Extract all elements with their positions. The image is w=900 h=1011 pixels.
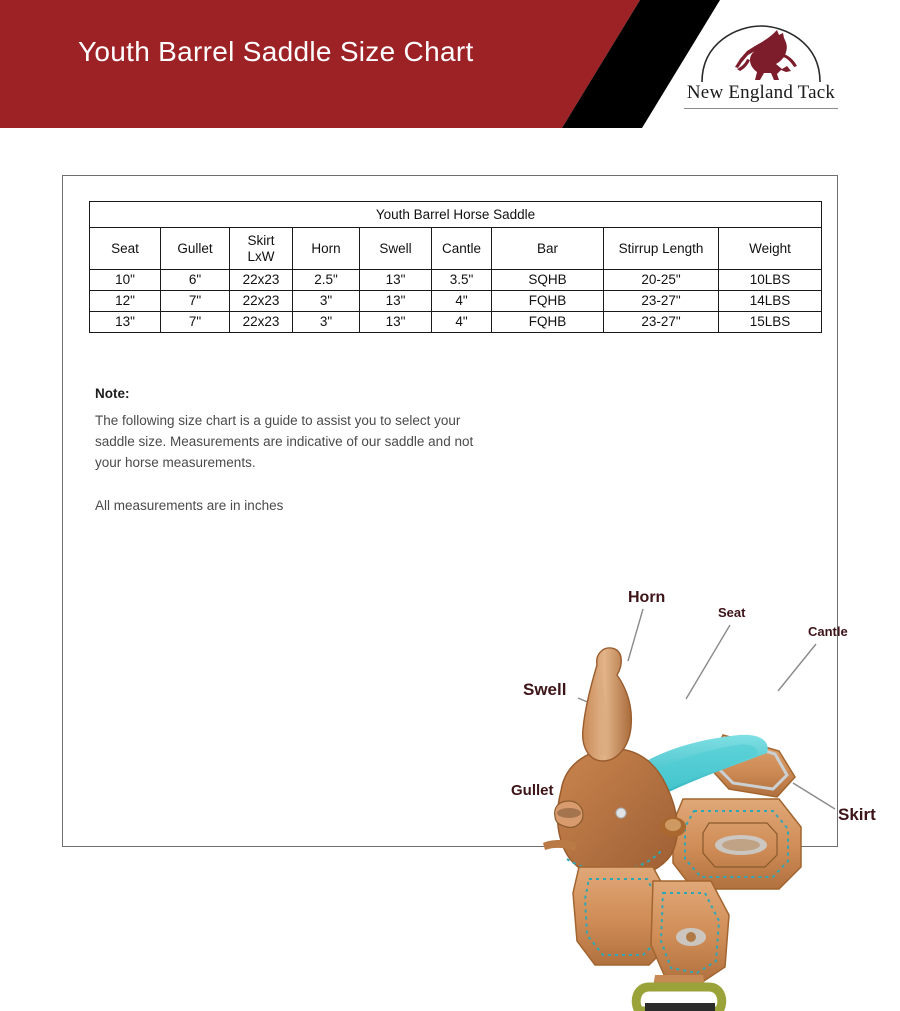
cell-skirt: 22x23 <box>230 291 293 312</box>
stirrup-tread <box>645 1003 715 1011</box>
diagram-label-cantle: Cantle <box>808 624 848 639</box>
diagram-label-swell: Swell <box>523 680 566 700</box>
cell-weight: 10LBS <box>719 270 822 291</box>
cell-horn: 2.5" <box>293 270 360 291</box>
cell-cantle: 3.5" <box>432 270 492 291</box>
column-header-bar: Bar <box>492 228 604 270</box>
column-header-cantle: Cantle <box>432 228 492 270</box>
gullet-shadow <box>557 808 581 818</box>
rearing-horse-icon <box>735 30 797 80</box>
note-block: Note: The following size chart is a guid… <box>95 386 495 513</box>
diagram-label-gullet: Gullet <box>511 782 554 799</box>
table-body: 10"6"22x232.5"13"3.5"SQHB20-25"10LBS12"7… <box>90 270 822 333</box>
saddle-illustration <box>533 631 823 1011</box>
skirt-silver-inner <box>722 839 760 851</box>
cell-skirt: 22x23 <box>230 270 293 291</box>
cell-seat: 13" <box>90 312 161 333</box>
front-concho <box>616 808 626 818</box>
table-row: 13"7"22x233"13"4"FQHB23-27"15LBS <box>90 312 822 333</box>
page-title: Youth Barrel Saddle Size Chart <box>78 36 474 68</box>
cell-cantle: 4" <box>432 291 492 312</box>
cell-stirrup-length: 23-27" <box>604 291 719 312</box>
size-chart-table: Youth Barrel Horse Saddle Seat Gullet Sk… <box>89 201 822 333</box>
column-header-skirt-line1: Skirt <box>248 233 275 248</box>
horn <box>583 648 632 761</box>
cell-stirrup-length: 20-25" <box>604 270 719 291</box>
column-header-swell: Swell <box>360 228 432 270</box>
note-heading: Note: <box>95 386 495 401</box>
cell-gullet: 7" <box>161 312 230 333</box>
column-header-seat: Seat <box>90 228 161 270</box>
gullet-front-lip <box>543 840 577 851</box>
column-header-gullet: Gullet <box>161 228 230 270</box>
brand-underline <box>684 108 838 109</box>
brand-logo-mark <box>678 24 844 84</box>
table-title: Youth Barrel Horse Saddle <box>90 202 822 228</box>
brand-logo: New England Tack <box>678 24 844 120</box>
content-panel: Youth Barrel Horse Saddle Seat Gullet Sk… <box>62 175 838 847</box>
column-header-stirrup-length: Stirrup Length <box>604 228 719 270</box>
cell-gullet: 6" <box>161 270 230 291</box>
cell-horn: 3" <box>293 312 360 333</box>
column-header-skirt-line2: LxW <box>248 249 275 264</box>
diagram-label-horn: Horn <box>628 589 665 607</box>
cell-gullet: 7" <box>161 291 230 312</box>
rigging-dee-inner <box>665 819 681 831</box>
cell-swell: 13" <box>360 291 432 312</box>
table-head: Youth Barrel Horse Saddle Seat Gullet Sk… <box>90 202 822 270</box>
cell-seat: 10" <box>90 270 161 291</box>
cell-weight: 14LBS <box>719 291 822 312</box>
note-units: All measurements are in inches <box>95 498 495 513</box>
diagram-label-skirt: Skirt <box>838 805 876 825</box>
cell-cantle: 4" <box>432 312 492 333</box>
brand-name: New England Tack <box>678 82 844 104</box>
column-header-weight: Weight <box>719 228 822 270</box>
cell-skirt: 22x23 <box>230 312 293 333</box>
cell-bar: FQHB <box>492 291 604 312</box>
saddle-diagram: Horn Seat Cantle Swell Gullet Skirt <box>438 391 838 811</box>
cell-swell: 13" <box>360 270 432 291</box>
cell-stirrup-length: 23-27" <box>604 312 719 333</box>
cell-bar: FQHB <box>492 312 604 333</box>
cell-weight: 15LBS <box>719 312 822 333</box>
cell-swell: 13" <box>360 312 432 333</box>
lower-skirt-concho <box>686 932 696 942</box>
cell-horn: 3" <box>293 291 360 312</box>
note-body: The following size chart is a guide to a… <box>95 411 495 474</box>
diagram-label-seat: Seat <box>718 605 745 620</box>
column-header-horn: Horn <box>293 228 360 270</box>
table-header-row: Seat Gullet Skirt LxW Horn Swell Cantle … <box>90 228 822 270</box>
table-row: 10"6"22x232.5"13"3.5"SQHB20-25"10LBS <box>90 270 822 291</box>
table-row: 12"7"22x233"13"4"FQHB23-27"14LBS <box>90 291 822 312</box>
table-title-row: Youth Barrel Horse Saddle <box>90 202 822 228</box>
column-header-skirt: Skirt LxW <box>230 228 293 270</box>
cell-bar: SQHB <box>492 270 604 291</box>
cell-seat: 12" <box>90 291 161 312</box>
